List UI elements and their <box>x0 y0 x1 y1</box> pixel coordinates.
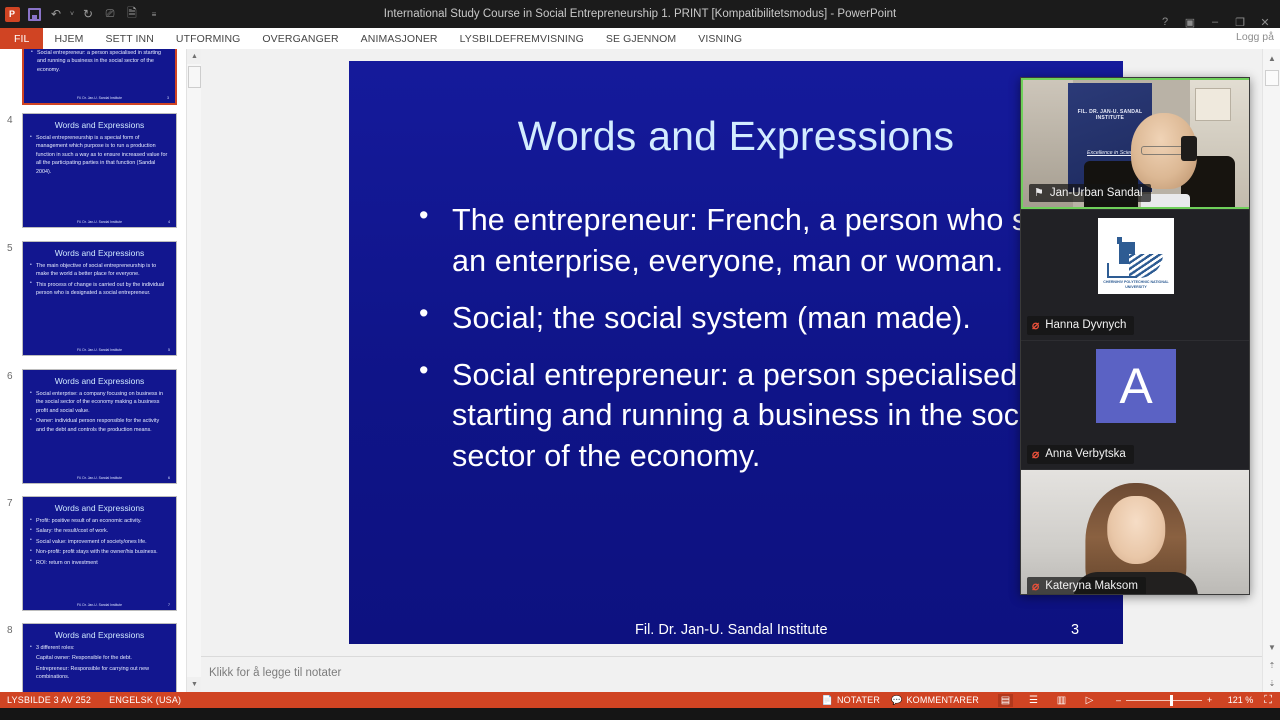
notes-button-label: NOTATER <box>837 695 880 705</box>
chernihiv-university-logo-icon <box>1105 236 1167 280</box>
thumbnail-page-number: 6 <box>168 476 170 480</box>
slide-thumbnail-pane[interactable]: Social entrepreneur: a person specialise… <box>0 49 186 692</box>
thumbnail-footer: Fil. Dr. Jan-U. Sandal Institute <box>23 603 176 607</box>
muted-microphone-icon: ⌀ <box>1032 447 1039 461</box>
thumbnail-line: Salary: the result/cost of work. <box>30 527 169 535</box>
avatar: A <box>1096 349 1176 423</box>
thumbnail-pane-scrollbar[interactable]: ▲ ▼ <box>186 49 201 692</box>
scroll-bottom-group[interactable]: ▼ ⇡ ⇣ <box>1263 638 1280 692</box>
thumbnail-slide-4[interactable]: Words and Expressions Social entrepreneu… <box>22 113 177 228</box>
participant-tile-kateryna-maksom[interactable]: ⌀ Kateryna Maksom <box>1021 470 1250 595</box>
thumbnail-line: Social entrepreneurship is a special for… <box>30 134 169 176</box>
thumbnail-footer: Fil. Dr. Jan-U. Sandal Institute <box>23 348 176 352</box>
zoom-percentage[interactable]: 121 % <box>1223 695 1253 705</box>
thumbnail-number: 6 <box>7 371 13 382</box>
title-bar: P ↶ ˅ ↻ ⎚ 🗎 ≡ International Study Course… <box>0 0 1280 28</box>
tab-overganger[interactable]: OVERGANGER <box>251 28 349 49</box>
participant-logo-image: CHERNIHIV POLYTECHNIC NATIONAL UNIVERSIT… <box>1098 218 1174 294</box>
thumbnail-number: 7 <box>7 498 13 509</box>
tab-sett-inn[interactable]: SETT INN <box>94 28 164 49</box>
slide-bullet: Social entrepreneur: a person specialise… <box>413 355 1113 478</box>
thumbnail-title: Words and Expressions <box>23 120 176 130</box>
participant-name-chip: ⌀ Anna Verbytska <box>1027 445 1134 464</box>
thumbnail-line: The main objective of social entrepreneu… <box>30 262 169 279</box>
slide-bullet: The entrepreneur: French, a person who s… <box>413 200 1113 282</box>
status-bar: LYSBILDE 3 AV 252 ENGELSK (USA) 📄 NOTATE… <box>0 692 1280 708</box>
participant-name-chip: ⌀ Hanna Dyvnych <box>1027 316 1134 335</box>
logo-caption: CHERNIHIV POLYTECHNIC NATIONAL UNIVERSIT… <box>1098 280 1174 290</box>
thumbnail-title: Words and Expressions <box>23 248 176 258</box>
thumbnail-slide-3[interactable]: Social entrepreneur: a person specialise… <box>22 49 177 105</box>
sign-in-link[interactable]: Logg på <box>1236 31 1274 43</box>
thumbnail-row[interactable]: Social entrepreneur: a person specialise… <box>0 49 186 109</box>
thumbnail-row[interactable]: 8 Words and Expressions 3 different role… <box>0 619 186 692</box>
window-title: International Study Course in Social Ent… <box>0 0 1280 28</box>
tab-utforming[interactable]: UTFORMING <box>165 28 251 49</box>
pin-icon: ⚑ <box>1034 186 1044 199</box>
participant-name: Hanna Dyvnych <box>1045 319 1126 331</box>
notes-icon: 📄 <box>822 695 833 706</box>
comments-button[interactable]: 💬 KOMMENTARER <box>891 695 979 706</box>
ribbon-tabstrip[interactable]: FIL HJEM SETT INN UTFORMING OVERGANGER A… <box>0 28 1280 49</box>
muted-microphone-icon: ⌀ <box>1032 579 1039 593</box>
thumbnail-line: Profit: positive result of an economic a… <box>30 517 169 525</box>
reading-view-button[interactable]: ▥ <box>1054 694 1069 707</box>
tab-lysbildefremvisning[interactable]: LYSBILDEFREMVISNING <box>449 28 595 49</box>
participant-tile-anna-verbytska[interactable]: A ⌀ Anna Verbytska <box>1021 341 1250 469</box>
tab-hjem[interactable]: HJEM <box>43 28 94 49</box>
thumbnail-page-number: 5 <box>168 348 170 352</box>
view-buttons-group[interactable]: ▤ ☰ ▥ ▷ <box>998 694 1097 707</box>
thumbnail-footer: Fil. Dr. Jan-U. Sandal Institute <box>24 96 175 100</box>
thumbnail-page-number: 4 <box>168 220 170 224</box>
tab-animasjoner[interactable]: ANIMASJONER <box>350 28 449 49</box>
scrollbar-thumb[interactable] <box>188 66 201 88</box>
slideshow-button[interactable]: ▷ <box>1082 694 1097 707</box>
ribbon: FIL HJEM SETT INN UTFORMING OVERGANGER A… <box>0 28 1280 49</box>
thumbnail-row[interactable]: 6 Words and Expressions Social enterpris… <box>0 365 186 492</box>
scroll-up-icon[interactable]: ▲ <box>1263 49 1280 67</box>
scroll-up-icon[interactable]: ▲ <box>187 49 202 64</box>
thumbnail-row[interactable]: 7 Words and Expressions Profit: positive… <box>0 492 186 619</box>
thumbnail-slide-5[interactable]: Words and Expressions The main objective… <box>22 241 177 356</box>
thumbnail-number: 4 <box>7 115 13 126</box>
thumbnail-line: Entrepreneur: Responsible for carrying o… <box>30 665 169 682</box>
notes-button[interactable]: 📄 NOTATER <box>822 695 880 706</box>
slide-body-placeholder[interactable]: The entrepreneur: French, a person who s… <box>413 200 1113 477</box>
thumbnail-number: 5 <box>7 243 13 254</box>
thumbnail-line: This process of change is carried out by… <box>30 281 169 298</box>
muted-microphone-icon: ⌀ <box>1032 318 1039 332</box>
participant-name: Kateryna Maksom <box>1045 580 1138 592</box>
thumbnail-footer: Fil. Dr. Jan-U. Sandal Institute <box>23 220 176 224</box>
thumbnail-title: Words and Expressions <box>23 630 176 640</box>
thumbnail-slide-6[interactable]: Words and Expressions Social enterprise:… <box>22 369 177 484</box>
thumbnail-number: 8 <box>7 625 13 636</box>
comments-button-label: KOMMENTARER <box>906 695 979 705</box>
notes-pane[interactable]: Klikk for å legge til notater <box>201 656 1262 692</box>
slide-pane-scrollbar[interactable]: ▲ ▼ ⇡ ⇣ <box>1262 49 1280 692</box>
participant-name: Jan-Urban Sandal <box>1050 187 1143 199</box>
slide-counter[interactable]: LYSBILDE 3 AV 252 <box>7 695 91 705</box>
tab-visning[interactable]: VISNING <box>687 28 753 49</box>
tab-se-gjennom[interactable]: SE GJENNOM <box>595 28 687 49</box>
thumbnail-line: Non-profit: profit stays with the owner/… <box>30 548 169 556</box>
comment-icon: 💬 <box>891 695 902 706</box>
desktop-taskbar-strip <box>0 708 1280 720</box>
participant-name: Anna Verbytska <box>1045 448 1126 460</box>
normal-view-button[interactable]: ▤ <box>998 694 1013 707</box>
thumbnail-line: Capital owner: Responsible for the debt. <box>30 654 169 662</box>
thumbnail-slide-7[interactable]: Words and Expressions Profit: positive r… <box>22 496 177 611</box>
tab-fil[interactable]: FIL <box>0 28 43 49</box>
thumbnail-line: Social enterprise: a company focusing on… <box>30 390 169 415</box>
thumbnail-footer: Fil. Dr. Jan-U. Sandal Institute <box>23 476 176 480</box>
video-conference-panel[interactable]: FIL. DR. JAN-U. SANDAL INSTITUTE Excelle… <box>1020 77 1250 595</box>
thumbnail-title: Words and Expressions <box>23 376 176 386</box>
thumbnail-line: Social value: improvement of society/one… <box>30 538 169 546</box>
scrollbar-thumb[interactable] <box>1265 70 1279 86</box>
zoom-in-button[interactable]: + <box>1207 695 1212 705</box>
next-slide-icon[interactable]: ⇣ <box>1263 674 1280 692</box>
zoom-out-button[interactable]: – <box>1116 695 1121 705</box>
thumbnail-line: Social entrepreneur: a person specialise… <box>31 49 168 74</box>
previous-slide-icon[interactable]: ⇡ <box>1263 656 1280 674</box>
zoom-slider-handle[interactable] <box>1170 695 1173 706</box>
banner-line-1: FIL. DR. JAN-U. SANDAL INSTITUTE <box>1069 109 1151 121</box>
thumbnail-line: ROI: return on investment <box>30 559 169 567</box>
participant-tile-hanna-dyvnych[interactable]: CHERNIHIV POLYTECHNIC NATIONAL UNIVERSIT… <box>1021 210 1250 340</box>
thumbnail-line: 3 different roles: <box>30 644 169 652</box>
slide-page-number: 3 <box>1071 622 1079 638</box>
powerpoint-window: P ↶ ˅ ↻ ⎚ 🗎 ≡ International Study Course… <box>0 0 1280 720</box>
thumbnail-row[interactable]: 4 Words and Expressions Social entrepren… <box>0 109 186 237</box>
slide-bullet: Social; the social system (man made). <box>413 298 1113 339</box>
participant-name-chip: ⚑ Jan-Urban Sandal <box>1029 184 1151 202</box>
notes-placeholder[interactable]: Klikk for å legge til notater <box>209 667 341 679</box>
scroll-down-icon[interactable]: ▼ <box>1263 638 1280 656</box>
thumbnail-row[interactable]: 5 Words and Expressions The main objecti… <box>0 237 186 365</box>
slide-title[interactable]: Words and Expressions <box>349 113 1123 160</box>
thumbnail-slide-8[interactable]: Words and Expressions 3 different roles:… <box>22 623 177 692</box>
thumbnail-line: Owner: individual person responsible for… <box>30 417 169 434</box>
thumbnail-page-number: 7 <box>168 603 170 607</box>
participant-tile-jan-urban-sandal[interactable]: FIL. DR. JAN-U. SANDAL INSTITUTE Excelle… <box>1021 78 1250 209</box>
fit-slide-to-window-icon[interactable]: ⛶ <box>1264 694 1272 707</box>
current-slide[interactable]: Words and Expressions The entrepreneur: … <box>349 61 1123 644</box>
participant-name-chip: ⌀ Kateryna Maksom <box>1027 577 1146 595</box>
thumbnail-page-number: 3 <box>167 96 169 100</box>
thumbnail-title: Words and Expressions <box>23 503 176 513</box>
scroll-down-icon[interactable]: ▼ <box>187 677 202 692</box>
slide-footer-text: Fil. Dr. Jan-U. Sandal Institute <box>635 622 828 638</box>
zoom-slider[interactable]: – + <box>1116 695 1212 705</box>
slide-sorter-button[interactable]: ☰ <box>1026 694 1041 707</box>
language-indicator[interactable]: ENGELSK (USA) <box>109 695 181 705</box>
zoom-slider-track[interactable] <box>1126 700 1202 701</box>
